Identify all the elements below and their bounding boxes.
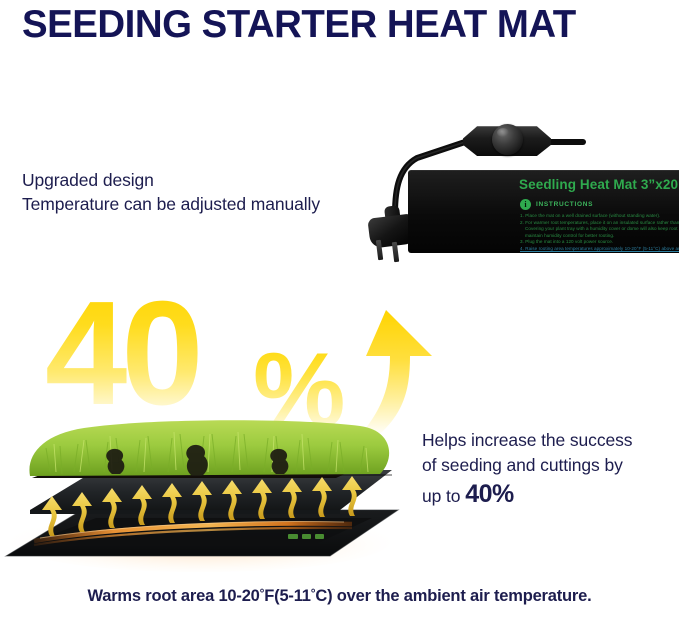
- feature-line-1: Upgraded design: [22, 168, 352, 192]
- caption-unit-f: F(5-11: [264, 587, 311, 605]
- certification-marks: [288, 534, 324, 539]
- inline-temperature-controller[interactable]: [463, 121, 551, 161]
- benefit-line-3: up to 40%: [422, 482, 672, 509]
- instruction-line: maintain humidity control for better roo…: [520, 233, 679, 240]
- instructions-label: INSTRUCTIONS: [536, 201, 593, 208]
- instruction-line: Covering your plant tray with a humidity…: [520, 226, 679, 233]
- instruction-line: 3. Plug the mat into a 120 volt power so…: [520, 239, 679, 246]
- instruction-line: 2. For warmer root temperatures, place i…: [520, 220, 679, 227]
- controller-knob-icon[interactable]: [492, 124, 523, 155]
- instruction-line: 4. Raise rooting area temperatures appro…: [520, 246, 679, 253]
- heat-mat-product: Seedling Heat Mat 3”x20” i INSTRUCTIONS …: [408, 170, 679, 253]
- heat-diagram-illustration: [0, 414, 420, 574]
- mat-instructions-list: 1. Place the mat on a well drained surfa…: [520, 213, 679, 253]
- page-title: SEEDING STARTER HEAT MAT: [22, 2, 633, 48]
- caption-before: Warms root area 10-20: [87, 587, 259, 605]
- caption-unit-c: C): [315, 587, 332, 605]
- benefit-prefix: up to: [422, 486, 465, 506]
- product-photo: Seedling Heat Mat 3”x20” i INSTRUCTIONS …: [355, 118, 679, 253]
- feature-line-2: Temperature can be adjusted manually: [22, 192, 352, 216]
- caption-after: over the ambient air temperature.: [332, 587, 591, 605]
- feature-text-block: Upgraded design Temperature can be adjus…: [22, 168, 352, 216]
- info-icon: i: [520, 199, 531, 210]
- bottom-caption: Warms root area 10-20°F(5-11°C) over the…: [0, 586, 679, 606]
- mat-label-title: Seedling Heat Mat 3”x20”: [519, 177, 679, 192]
- seedling-grass: [29, 420, 389, 476]
- hero-number: 40: [45, 280, 198, 428]
- benefit-line-2: of seeding and cuttings by: [422, 453, 672, 478]
- benefit-percent-value: 40%: [465, 480, 514, 508]
- mat-instructions-heading: i INSTRUCTIONS: [520, 199, 593, 210]
- benefit-text-block: Helps increase the success of seeding an…: [422, 428, 672, 509]
- instruction-line: 1. Place the mat on a well drained surfa…: [520, 213, 679, 220]
- benefit-line-1: Helps increase the success: [422, 428, 672, 453]
